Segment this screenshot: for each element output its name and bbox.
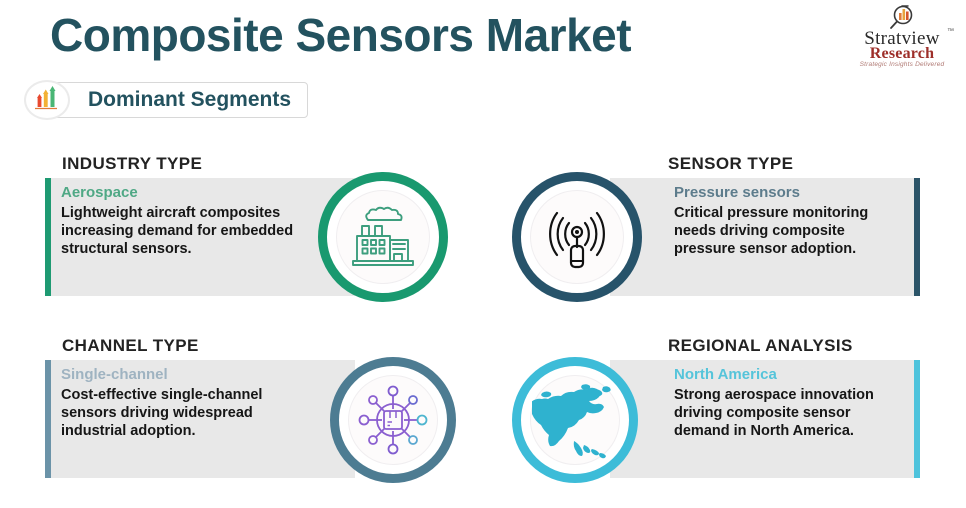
wireless-sensor-icon — [539, 201, 615, 273]
accent-bar-channel-type — [45, 360, 51, 478]
description-channel-type: Cost-effective single-channel sensors dr… — [61, 386, 305, 440]
icon-circle-channel-type — [330, 357, 456, 483]
company-logo: Stratview ™ Research Strategic Insights … — [846, 4, 958, 70]
subtitle-regional-analysis: North America — [674, 366, 910, 383]
badge-box: Dominant Segments — [47, 82, 308, 118]
description-regional-analysis: Strong aerospace innovation driving comp… — [674, 386, 910, 440]
quadrant-title-channel-type: CHANNEL TYPE — [62, 336, 199, 356]
quadrant-title-sensor-type: SENSOR TYPE — [668, 154, 793, 174]
accent-bar-industry-type — [45, 178, 51, 296]
logo-trademark: ™ — [947, 28, 954, 35]
panel-sensor-type: Pressure sensors Critical pressure monit… — [610, 178, 920, 296]
icon-circle-industry-type — [318, 172, 448, 302]
north-america-map-icon — [532, 379, 618, 461]
icon-circle-sensor-type — [512, 172, 642, 302]
accent-bar-regional-analysis — [914, 360, 920, 478]
description-industry-type: Lightweight aircraft composites increasi… — [61, 204, 305, 258]
logo-tagline: Strategic Insights Delivered — [846, 61, 958, 68]
factory-icon — [346, 204, 420, 270]
badge-label: Dominant Segments — [88, 88, 291, 112]
quadrant-title-regional-analysis: REGIONAL ANALYSIS — [668, 336, 853, 356]
panel-industry-type: Aerospace Lightweight aircraft composite… — [45, 178, 355, 296]
network-hub-icon — [354, 381, 432, 459]
subtitle-sensor-type: Pressure sensors — [674, 184, 910, 201]
panel-regional-analysis: North America Strong aerospace innovatio… — [610, 360, 920, 478]
panel-channel-type: Single-channel Cost-effective single-cha… — [45, 360, 355, 478]
page-title: Composite Sensors Market — [50, 8, 631, 62]
growth-arrows-icon — [24, 80, 70, 120]
description-sensor-type: Critical pressure monitoring needs drivi… — [674, 204, 910, 258]
subtitle-industry-type: Aerospace — [61, 184, 305, 201]
quadrant-title-industry-type: INDUSTRY TYPE — [62, 154, 202, 174]
accent-bar-sensor-type — [914, 178, 920, 296]
icon-circle-regional-analysis — [512, 357, 638, 483]
subtitle-channel-type: Single-channel — [61, 366, 305, 383]
